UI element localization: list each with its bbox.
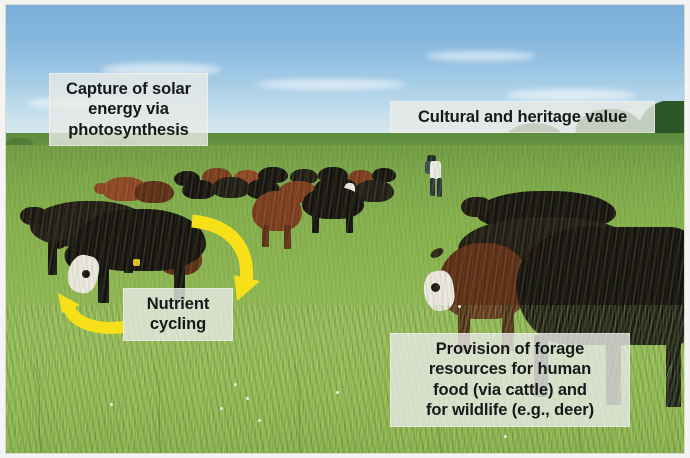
callout-line: cycling — [132, 314, 224, 334]
cloud — [506, 89, 636, 101]
callout-nutrient-cycling: Nutrient cycling — [123, 288, 233, 341]
wildflower — [336, 391, 339, 394]
callout-line: Provision of forage — [399, 339, 621, 359]
wildflower — [220, 407, 223, 410]
wildflower — [258, 419, 261, 422]
wildflower — [458, 305, 461, 308]
callout-line: Nutrient — [132, 294, 224, 314]
callout-capture-of-solar-energy: Capture of solar energy via photosynthes… — [49, 73, 208, 146]
callout-line: food (via cattle) and — [399, 380, 621, 400]
wildflower — [110, 403, 113, 406]
cloud — [426, 51, 536, 61]
callout-line: photosynthesis — [58, 120, 199, 140]
wildflower — [504, 435, 507, 438]
callout-line: Cultural and heritage value — [399, 107, 646, 127]
callout-line: Capture of solar — [58, 79, 199, 99]
cloud — [256, 79, 406, 90]
pasture-photograph: Capture of solar energy via photosynthes… — [6, 5, 684, 453]
callout-line: energy via — [58, 99, 199, 119]
wildflower — [234, 383, 237, 386]
callout-provision-of-forage-resources: Provision of forage resources for human … — [390, 333, 630, 427]
callout-cultural-and-heritage-value: Cultural and heritage value — [390, 101, 655, 133]
figure-frame: Capture of solar energy via photosynthes… — [0, 0, 690, 458]
callout-line: resources for human — [399, 359, 621, 379]
wildflower — [246, 397, 249, 400]
callout-line: for wildlife (e.g., deer) — [399, 400, 621, 420]
